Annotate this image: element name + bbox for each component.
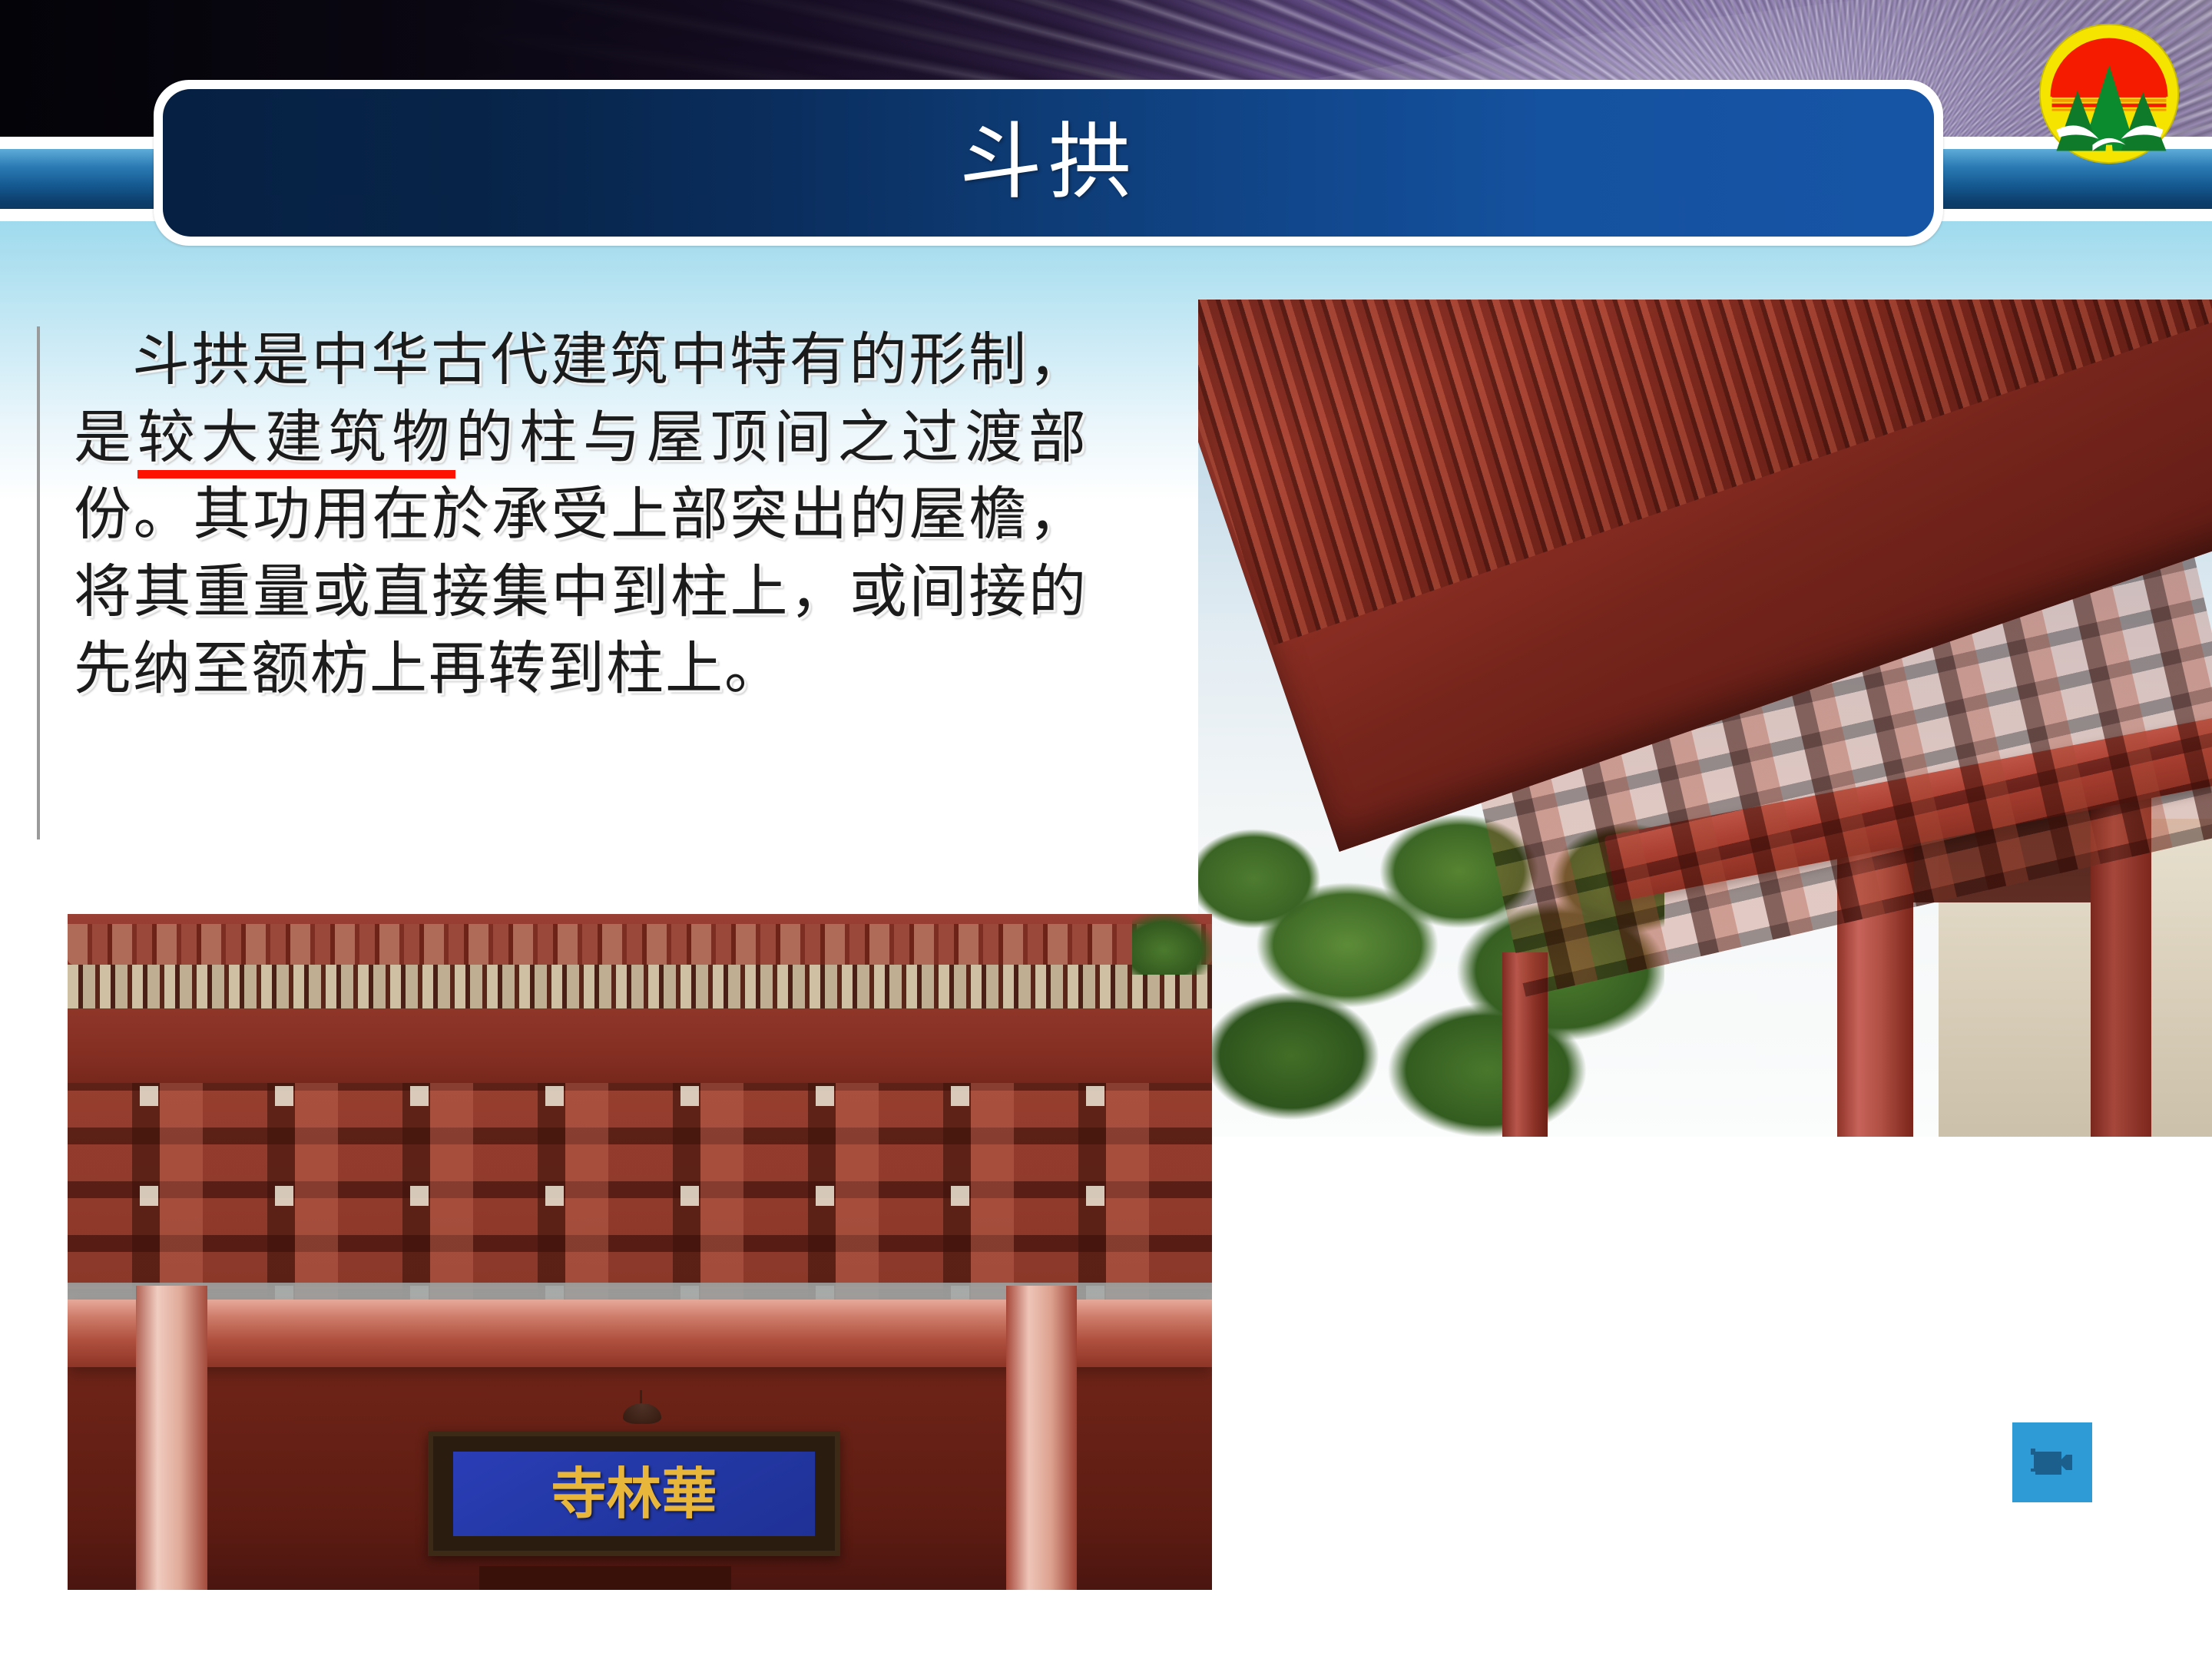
photo-bracket-tips — [68, 1083, 1212, 1306]
hualin-temple-facade-photo: 寺林華 — [68, 914, 1212, 1590]
photo-doorway — [479, 1566, 731, 1590]
school-emblem-logo — [2034, 18, 2184, 169]
photo-tree-corner — [1132, 914, 1212, 975]
photo-roof-tiles — [68, 924, 1212, 965]
video-camera-icon — [2028, 1445, 2077, 1479]
temple-eave-dougong-photo — [1198, 300, 2212, 1137]
slide-canvas: 斗拱 斗拱是中华古代建筑中特有的形制，是较大建筑物的柱与屋顶间之过渡部份。其功用… — [0, 0, 2212, 1659]
photo-eave-rafter-strip — [68, 965, 1212, 1012]
emblem-icon — [2034, 18, 2184, 169]
title-bar: 斗拱 — [163, 89, 1934, 237]
temple-plaque: 寺林華 — [428, 1431, 839, 1556]
text-left-rule — [37, 326, 40, 839]
temple-plaque-text: 寺林華 — [551, 1466, 717, 1522]
temple-plaque-face: 寺林華 — [453, 1452, 814, 1536]
page-title: 斗拱 — [959, 121, 1137, 204]
body-paragraph: 斗拱是中华古代建筑中特有的形制，是较大建筑物的柱与屋顶间之过渡部份。其功用在於承… — [74, 321, 1088, 707]
video-play-button[interactable] — [2012, 1422, 2092, 1502]
photo-right-column — [1006, 1286, 1077, 1590]
title-bar-frame: 斗拱 — [154, 80, 1943, 246]
photo-left-column — [136, 1286, 207, 1590]
body-text-block: 斗拱是中华古代建筑中特有的形制，是较大建筑物的柱与屋顶间之过渡部份。其功用在於承… — [74, 321, 1088, 707]
photo-hanging-bell — [623, 1390, 662, 1424]
body-text-highlight: 较大建筑物 — [137, 403, 455, 471]
